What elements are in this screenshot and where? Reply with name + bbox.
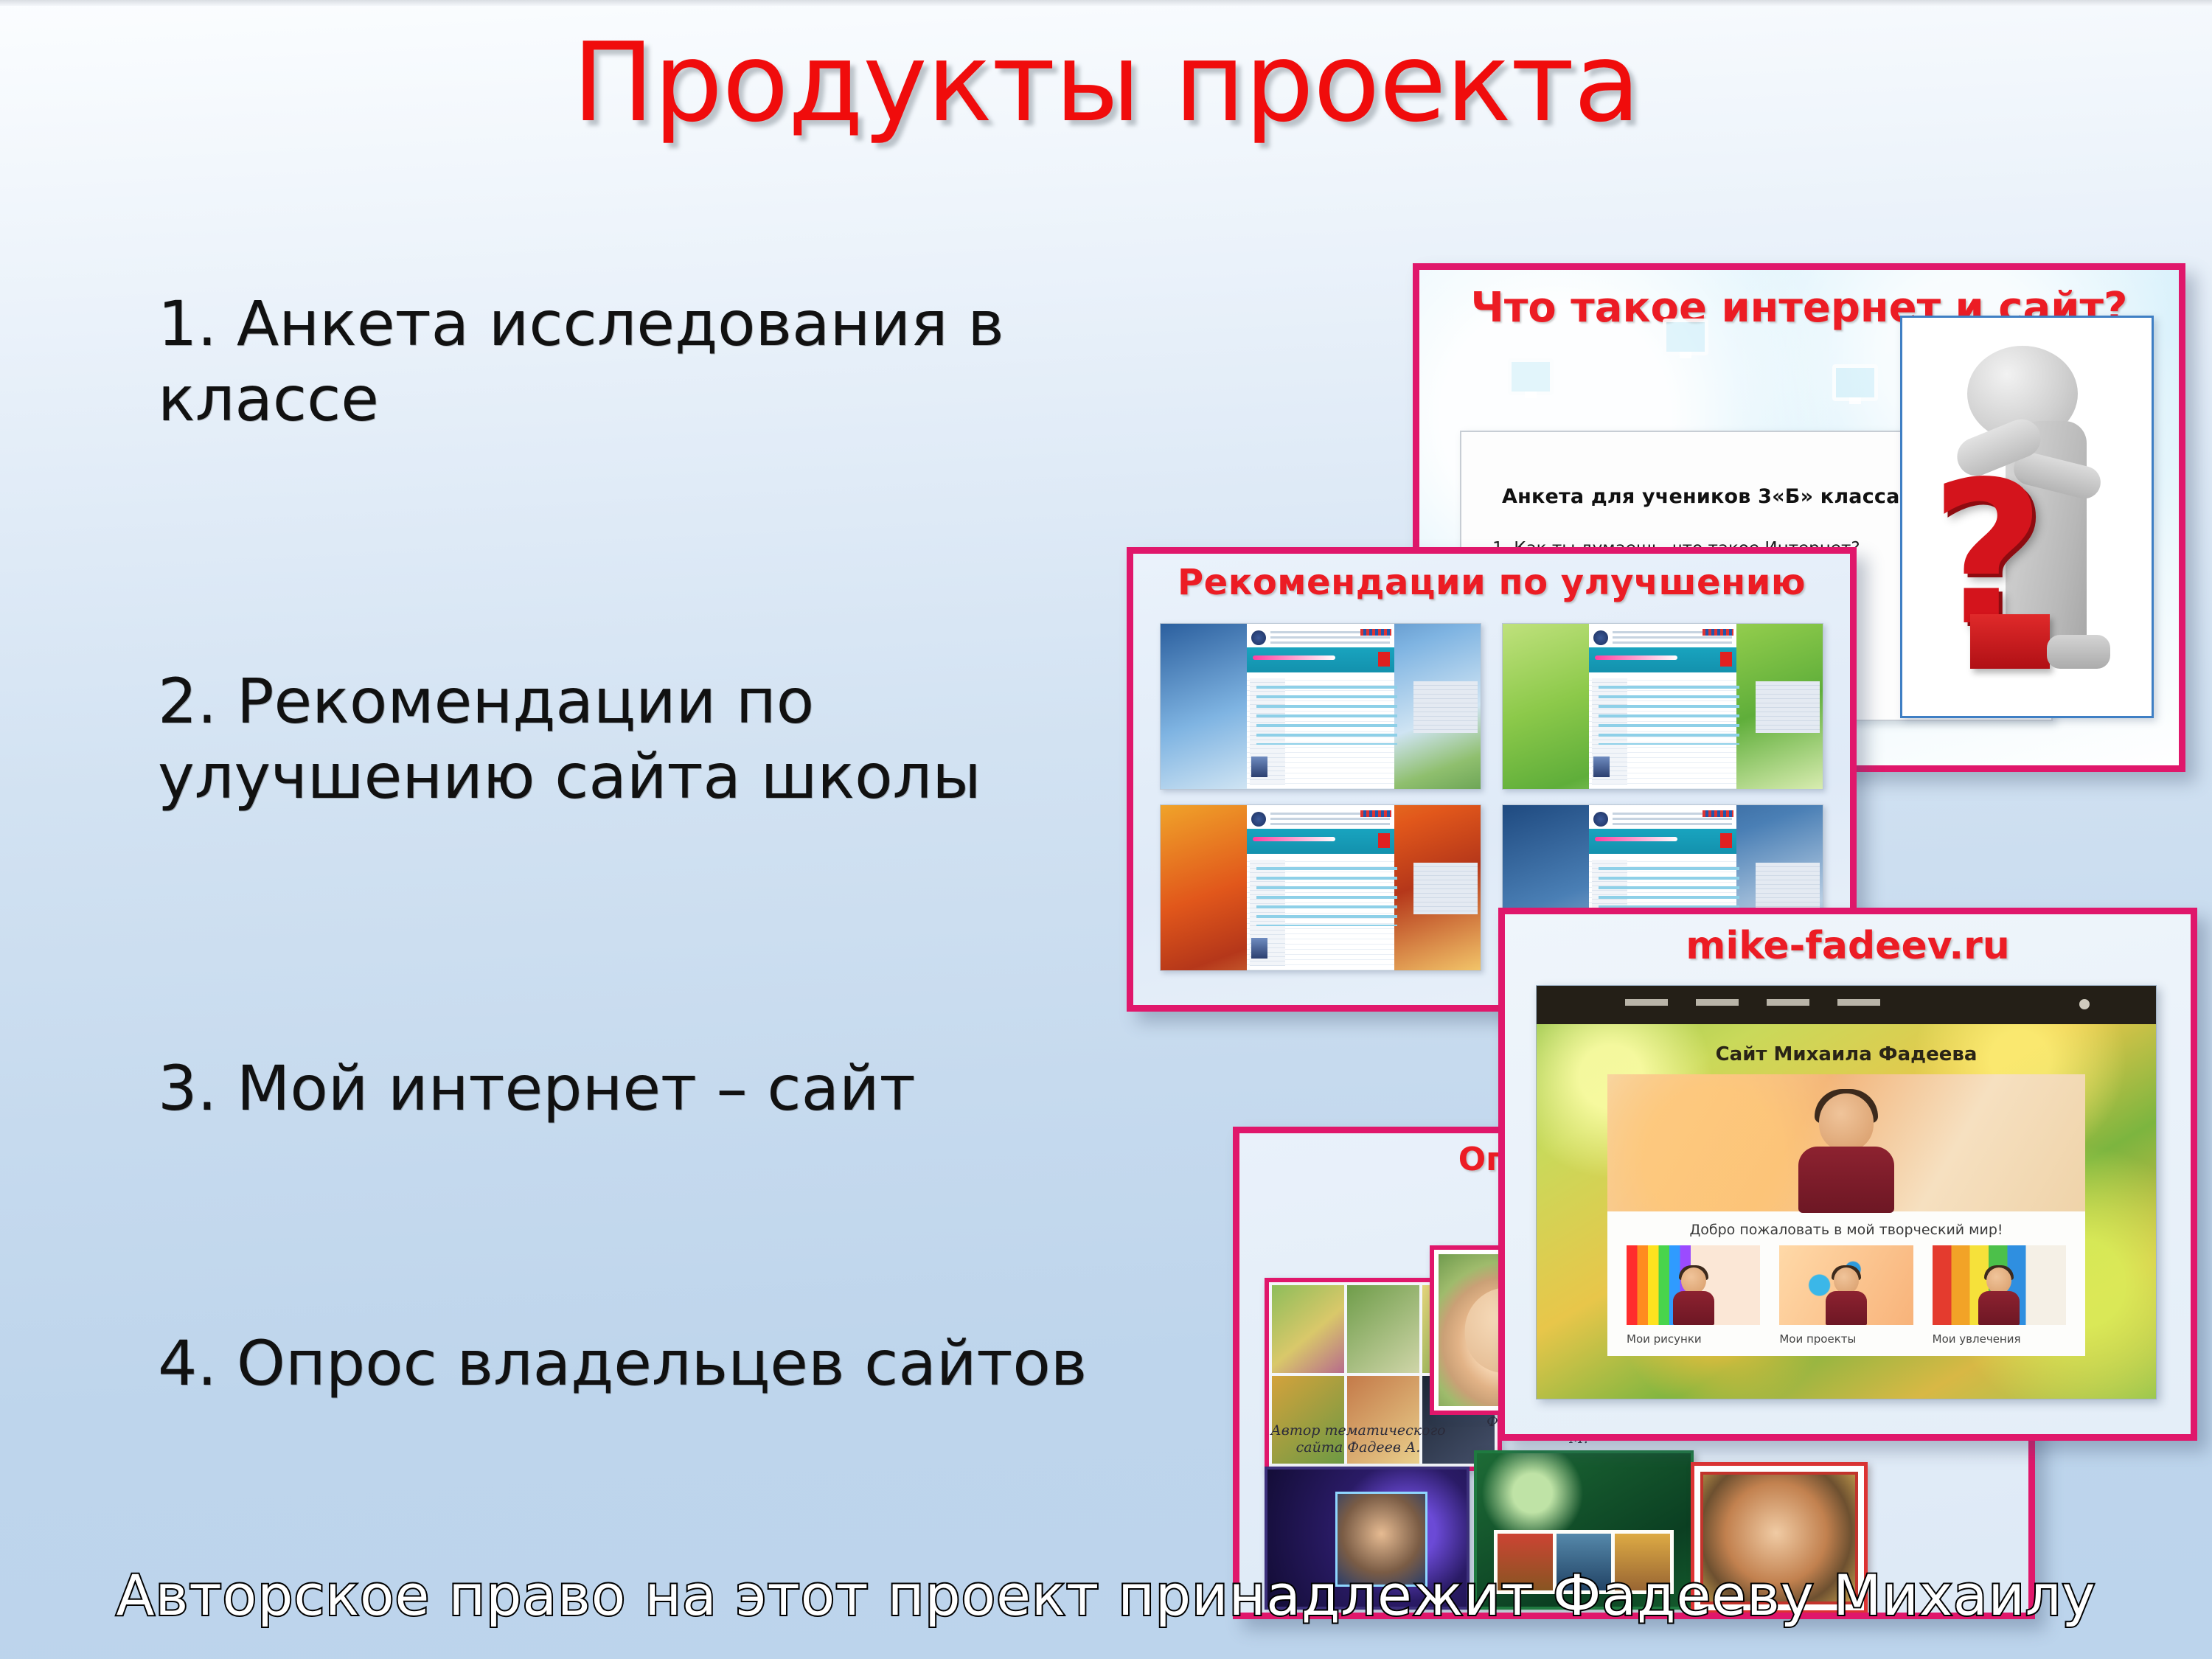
question-mark-icon: ? (1902, 318, 2152, 716)
site-screenshot[interactable] (1502, 623, 1823, 790)
site-tile-label: Мои рисунки (1627, 1332, 1760, 1346)
question-mark-figure-frame: ? (1900, 316, 2154, 718)
site-welcome-text: Добро пожаловать в мой творческий мир! (1607, 1222, 2085, 1238)
card-title: mike-fadeev.ru (1505, 914, 2191, 967)
card-title: Рекомендации по улучшению (1133, 554, 1850, 602)
site-tile[interactable]: Мои рисунки (1627, 1245, 1760, 1346)
site-tile[interactable]: Мои увлечения (1933, 1245, 2066, 1346)
site-screenshot[interactable] (1160, 804, 1481, 971)
site-hero-photo (1607, 1074, 2085, 1211)
list-item: 4. Опрос владельцев сайтов (158, 1326, 1190, 1401)
copyright-footer: Авторское право на этот проект принадлеж… (0, 1562, 2212, 1628)
list-item: 2. Рекомендации по улучшению сайта школы (158, 664, 1116, 815)
list-item: 3. Мой интернет – сайт (158, 1051, 1116, 1126)
site-navbar[interactable] (1537, 986, 2156, 1024)
site-tile-label: Мои увлечения (1933, 1332, 2066, 1346)
site-tile[interactable]: Мои проекты (1779, 1245, 1913, 1346)
owner-label-thematic-site-author: Автор тематического сайта Фадеев А. (1259, 1422, 1458, 1456)
site-preview[interactable]: Сайт Михаила Фадеева Добро пожаловать в … (1536, 985, 2157, 1399)
page-title: Продукты проекта (0, 19, 2212, 146)
site-content: Добро пожаловать в мой творческий мир! М… (1607, 1074, 2085, 1356)
presentation-slide: Продукты проекта 1. Анкета исследования … (0, 0, 2212, 1659)
list-item: 1. Анкета исследования в классе (158, 286, 1146, 437)
card-personal-site[interactable]: mike-fadeev.ru Сайт Михаила Фадеева Добр… (1498, 908, 2197, 1441)
site-tiles: Мои рисунки Мои проекты Мои увлечения (1627, 1245, 2066, 1346)
site-name: Сайт Михаила Фадеева (1537, 1043, 2156, 1065)
site-tile-label: Мои проекты (1779, 1332, 1913, 1346)
site-screenshot[interactable] (1160, 623, 1481, 790)
